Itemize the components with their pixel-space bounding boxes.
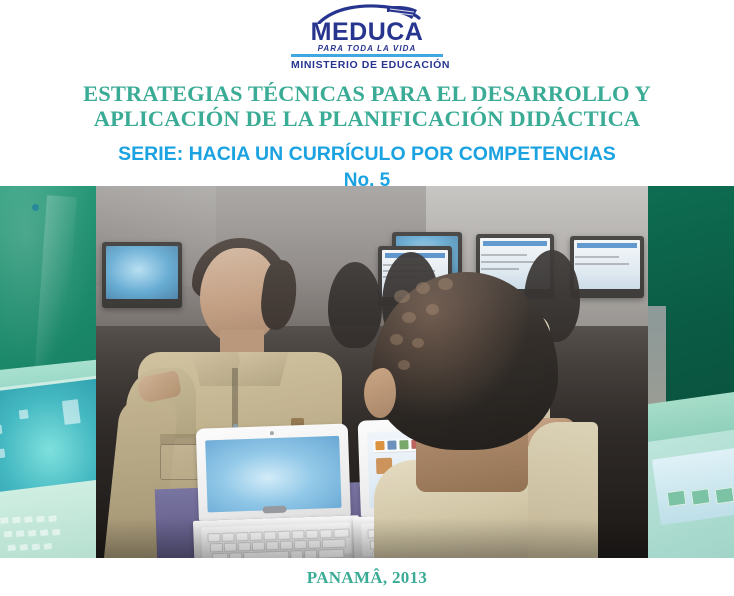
hair-curl bbox=[390, 334, 403, 345]
student-hair bbox=[372, 272, 558, 450]
hair-curl bbox=[412, 338, 424, 348]
backdrop-thumbnail bbox=[667, 490, 687, 507]
webcam-icon bbox=[270, 431, 274, 435]
cover-photo-band bbox=[0, 186, 734, 558]
hair-curl bbox=[402, 312, 416, 323]
logo-ministry-label: MINISTERIO DE EDUCACIÓN bbox=[291, 59, 443, 72]
hair-curl bbox=[416, 282, 430, 294]
logo-wordmark: MEDUCA bbox=[291, 21, 443, 43]
cover-photo-backdrop-left bbox=[0, 186, 96, 558]
backdrop-key bbox=[4, 531, 13, 538]
backdrop-key bbox=[0, 517, 9, 524]
backdrop-key bbox=[44, 543, 53, 550]
footer-place-year: PANAMÂ, 2013 bbox=[0, 568, 734, 588]
foreground-student bbox=[358, 272, 588, 558]
laptop-left-screen bbox=[205, 436, 341, 513]
backdrop-key bbox=[36, 516, 45, 523]
backdrop-key bbox=[31, 543, 40, 550]
logo-divider bbox=[291, 54, 443, 57]
student-ear bbox=[364, 368, 396, 418]
backdrop-desktop-icon bbox=[0, 425, 2, 435]
hair-curl bbox=[438, 278, 453, 290]
backdrop-key bbox=[28, 530, 37, 537]
laptop-left-latch bbox=[262, 506, 286, 514]
window-title-bar bbox=[577, 243, 637, 248]
meduca-logo: MEDUCA PARA TODA LA VIDA MINISTERIO DE E… bbox=[0, 0, 734, 72]
backdrop-thumbnail bbox=[715, 487, 734, 504]
backdrop-key bbox=[24, 516, 33, 523]
hair-curl bbox=[426, 304, 439, 315]
backdrop-thumbnail bbox=[691, 488, 711, 505]
backdrop-shirt-button bbox=[32, 204, 39, 211]
backdrop-keyboard bbox=[0, 478, 96, 558]
page-title-line-2: APLICACIÓN DE LA PLANIFICACIÓN DIDÁCTICA bbox=[0, 106, 734, 131]
logo-inner: MEDUCA PARA TODA LA VIDA MINISTERIO DE E… bbox=[291, 4, 443, 72]
backdrop-key bbox=[19, 544, 28, 551]
cover-photo-backdrop-right bbox=[648, 186, 734, 558]
backdrop-desktop-icon bbox=[19, 409, 29, 419]
backdrop-key bbox=[48, 515, 57, 522]
screen-text-line bbox=[575, 263, 629, 265]
screen-text-line bbox=[481, 254, 527, 256]
page-title-line-1: ESTRATEGIAS TÉCNICAS PARA EL DESARROLLO … bbox=[0, 81, 734, 106]
screen-text-line bbox=[481, 268, 519, 270]
hair-curl bbox=[398, 360, 410, 370]
backdrop-key bbox=[7, 544, 16, 551]
cover-photo bbox=[96, 186, 648, 558]
backdrop-window bbox=[62, 399, 81, 425]
hair-curl bbox=[394, 290, 410, 303]
backdrop-key bbox=[16, 530, 25, 537]
backdrop-key bbox=[52, 529, 61, 536]
screen-text-line bbox=[575, 256, 619, 258]
backdrop-desktop-icon bbox=[0, 448, 5, 458]
series-subtitle: SERIE: HACIA UN CURRÍCULO POR COMPETENCI… bbox=[0, 142, 734, 166]
page-title: ESTRATEGIAS TÉCNICAS PARA EL DESARROLLO … bbox=[0, 81, 734, 131]
backdrop-key bbox=[40, 529, 49, 536]
window-title-bar bbox=[483, 241, 547, 246]
backdrop-key bbox=[12, 517, 21, 524]
screen-text-line bbox=[481, 261, 539, 263]
book-arc-icon bbox=[291, 4, 443, 24]
photo-bottom-shadow bbox=[96, 518, 648, 558]
teacher-collar-right bbox=[234, 352, 288, 386]
